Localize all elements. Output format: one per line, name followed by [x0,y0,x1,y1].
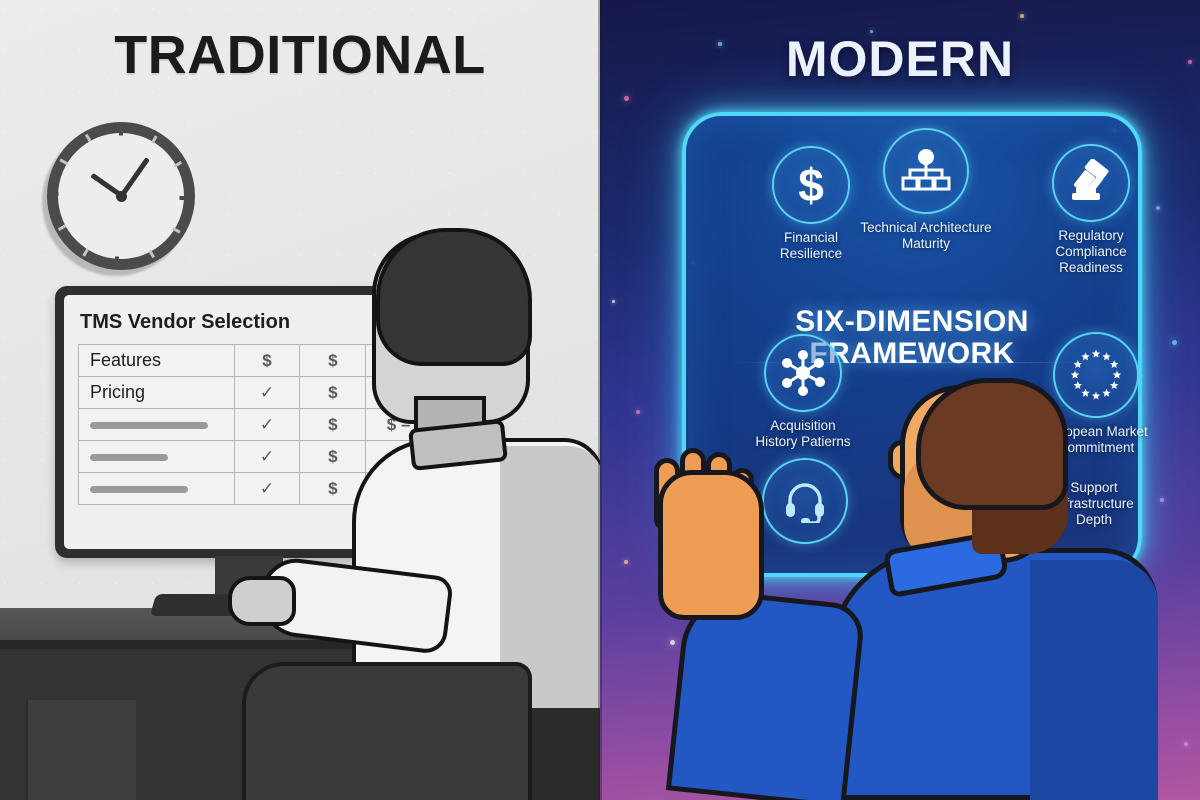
eu-stars-icon [1053,332,1139,418]
traditional-title: TRADITIONAL [0,24,600,86]
redacted-bar [90,454,168,461]
star-particle [1020,14,1024,18]
dimension-regulatory-compliance[interactable]: Regulatory Compliance Readiness [1016,144,1166,277]
table-cell: ✓ [234,377,300,409]
dimension-label: Commitment [1058,440,1135,455]
eu-star [1074,381,1082,389]
modern-person-torso-shade [1030,560,1158,800]
dimension-label: Resilience [780,246,842,261]
redacted-bar [90,486,188,493]
redacted-bar [90,422,208,429]
dimension-technical-architecture[interactable]: Technical Architecture Maturity [841,128,1011,252]
eu-star [1092,392,1100,400]
star-particle [612,300,615,303]
table-row-label [79,441,235,473]
star-particle [624,560,628,564]
traditional-person-hair [376,228,532,366]
modern-panel: MODERN SIX-DIMENSION FRAMEWORK $ Financi… [600,0,1200,800]
eu-star [1074,360,1082,368]
headset-icon [762,458,848,544]
dimension-acquisition-history[interactable]: Acquisition History Patierns [728,334,878,450]
eu-star [1092,350,1100,358]
table-cell: ✓ [234,409,300,441]
dimension-label: Financial [784,230,838,245]
gavel-icon [1052,144,1130,222]
table-cell: $ [300,441,366,473]
star-particle [670,640,675,645]
comparison-illustration: TRADITIONAL TMS Vendor Selection Feature… [0,0,1200,800]
traditional-person-hand [228,576,296,626]
star-particle [636,410,640,414]
eu-star [1110,360,1118,368]
table-cell: $ [300,345,366,377]
eu-star [1102,352,1110,360]
dimension-label: Technical Architecture [860,220,991,235]
hierarchy-icon [883,128,969,214]
eu-star [1081,389,1089,397]
clock-tick [115,257,119,268]
traditional-panel: TRADITIONAL TMS Vendor Selection Feature… [0,0,600,800]
dimension-label: Maturity [902,236,950,251]
eu-star [1071,371,1079,379]
table-cell: $ [300,409,366,441]
dimension-label: Regulatory [1058,228,1123,243]
desk-drawer [26,700,136,800]
dimension-label: Readiness [1059,260,1123,275]
modern-person-hand [658,470,764,620]
clock-tick [48,192,59,196]
wall-clock-icon [47,122,195,270]
clock-tick [180,196,191,200]
eu-star [1102,389,1110,397]
table-row-label [79,473,235,505]
office-chair-seat [242,662,532,800]
table-row-label: Features [79,345,235,377]
dimension-label: Depth [1076,512,1112,527]
modern-person-hair [916,378,1068,510]
eu-star [1113,371,1121,379]
clock-tick [119,125,123,136]
dimension-label: Compliance [1055,244,1126,259]
table-cell: ✓ [234,441,300,473]
dollar-icon: $ [772,146,850,224]
table-row-label [79,409,235,441]
table-cell: $ [300,377,366,409]
panel-divider [598,0,602,800]
eu-star [1110,381,1118,389]
dimension-label: Support [1070,480,1117,495]
star-particle [1184,742,1188,746]
dimension-label: History Patierns [755,434,850,449]
table-row: ✓$$ – [79,409,432,441]
network-icon [764,334,842,412]
dimension-label: Acquisition [770,418,835,433]
eu-star [1081,352,1089,360]
table-cell: $ [234,345,300,377]
table-cell: ✓ [234,473,300,505]
modern-title: MODERN [600,30,1200,88]
table-row-label: Pricing [79,377,235,409]
star-particle [624,96,629,101]
